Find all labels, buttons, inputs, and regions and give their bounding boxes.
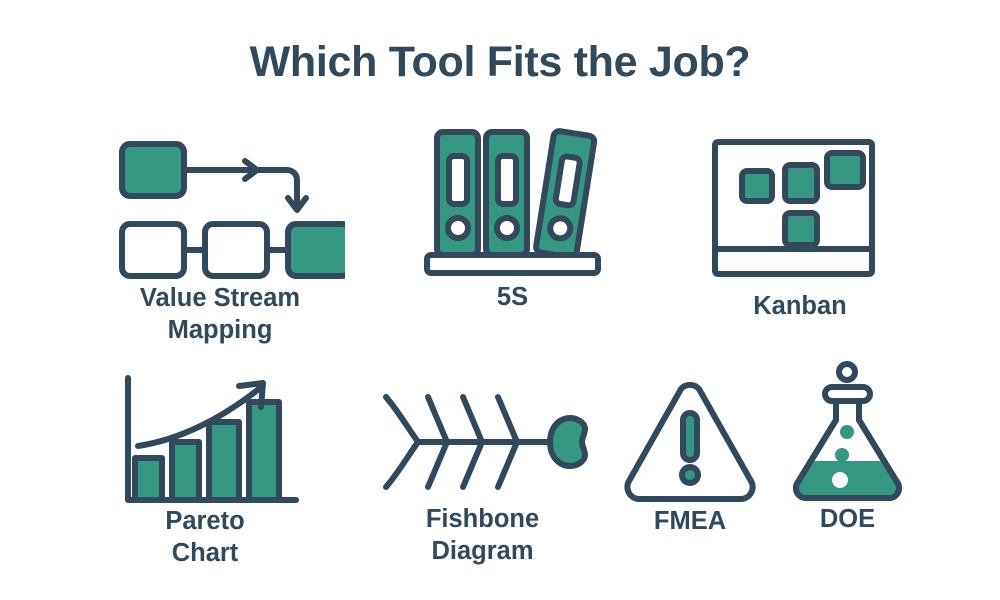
value-stream-mapping-icon <box>95 130 345 280</box>
erlenmeyer-flask-icon <box>780 358 915 503</box>
bar-chart-trend-icon <box>100 370 310 510</box>
tool-label-fmea: FMEA <box>615 505 765 537</box>
tool-card-doe[interactable]: DOE <box>780 358 915 558</box>
tool-label-pareto-chart: Pareto Chart <box>100 505 310 569</box>
warning-triangle-icon <box>615 375 765 505</box>
tool-card-fishbone-diagram[interactable]: Fishbone Diagram <box>370 385 595 585</box>
tool-card-value-stream-mapping[interactable]: Value Stream Mapping <box>95 130 345 350</box>
tool-label-kanban: Kanban <box>690 290 910 322</box>
page-title: Which Tool Fits the Job? <box>0 38 1000 87</box>
tool-card-kanban[interactable]: Kanban <box>690 125 910 350</box>
tool-card-pareto-chart[interactable]: Pareto Chart <box>100 370 310 585</box>
infographic-canvas: Which Tool Fits the Job? Value Stream Ma… <box>0 0 1000 600</box>
tool-card-5s[interactable]: 5S <box>400 118 625 343</box>
tool-label-doe: DOE <box>780 503 915 535</box>
fishbone-icon <box>370 385 595 500</box>
tool-label-5s: 5S <box>400 281 625 313</box>
binders-on-shelf-icon <box>400 118 625 278</box>
tool-label-fishbone-diagram: Fishbone Diagram <box>370 503 595 567</box>
tool-card-fmea[interactable]: FMEA <box>615 375 765 560</box>
tool-label-value-stream-mapping: Value Stream Mapping <box>95 282 345 346</box>
kanban-board-icon <box>690 125 910 285</box>
